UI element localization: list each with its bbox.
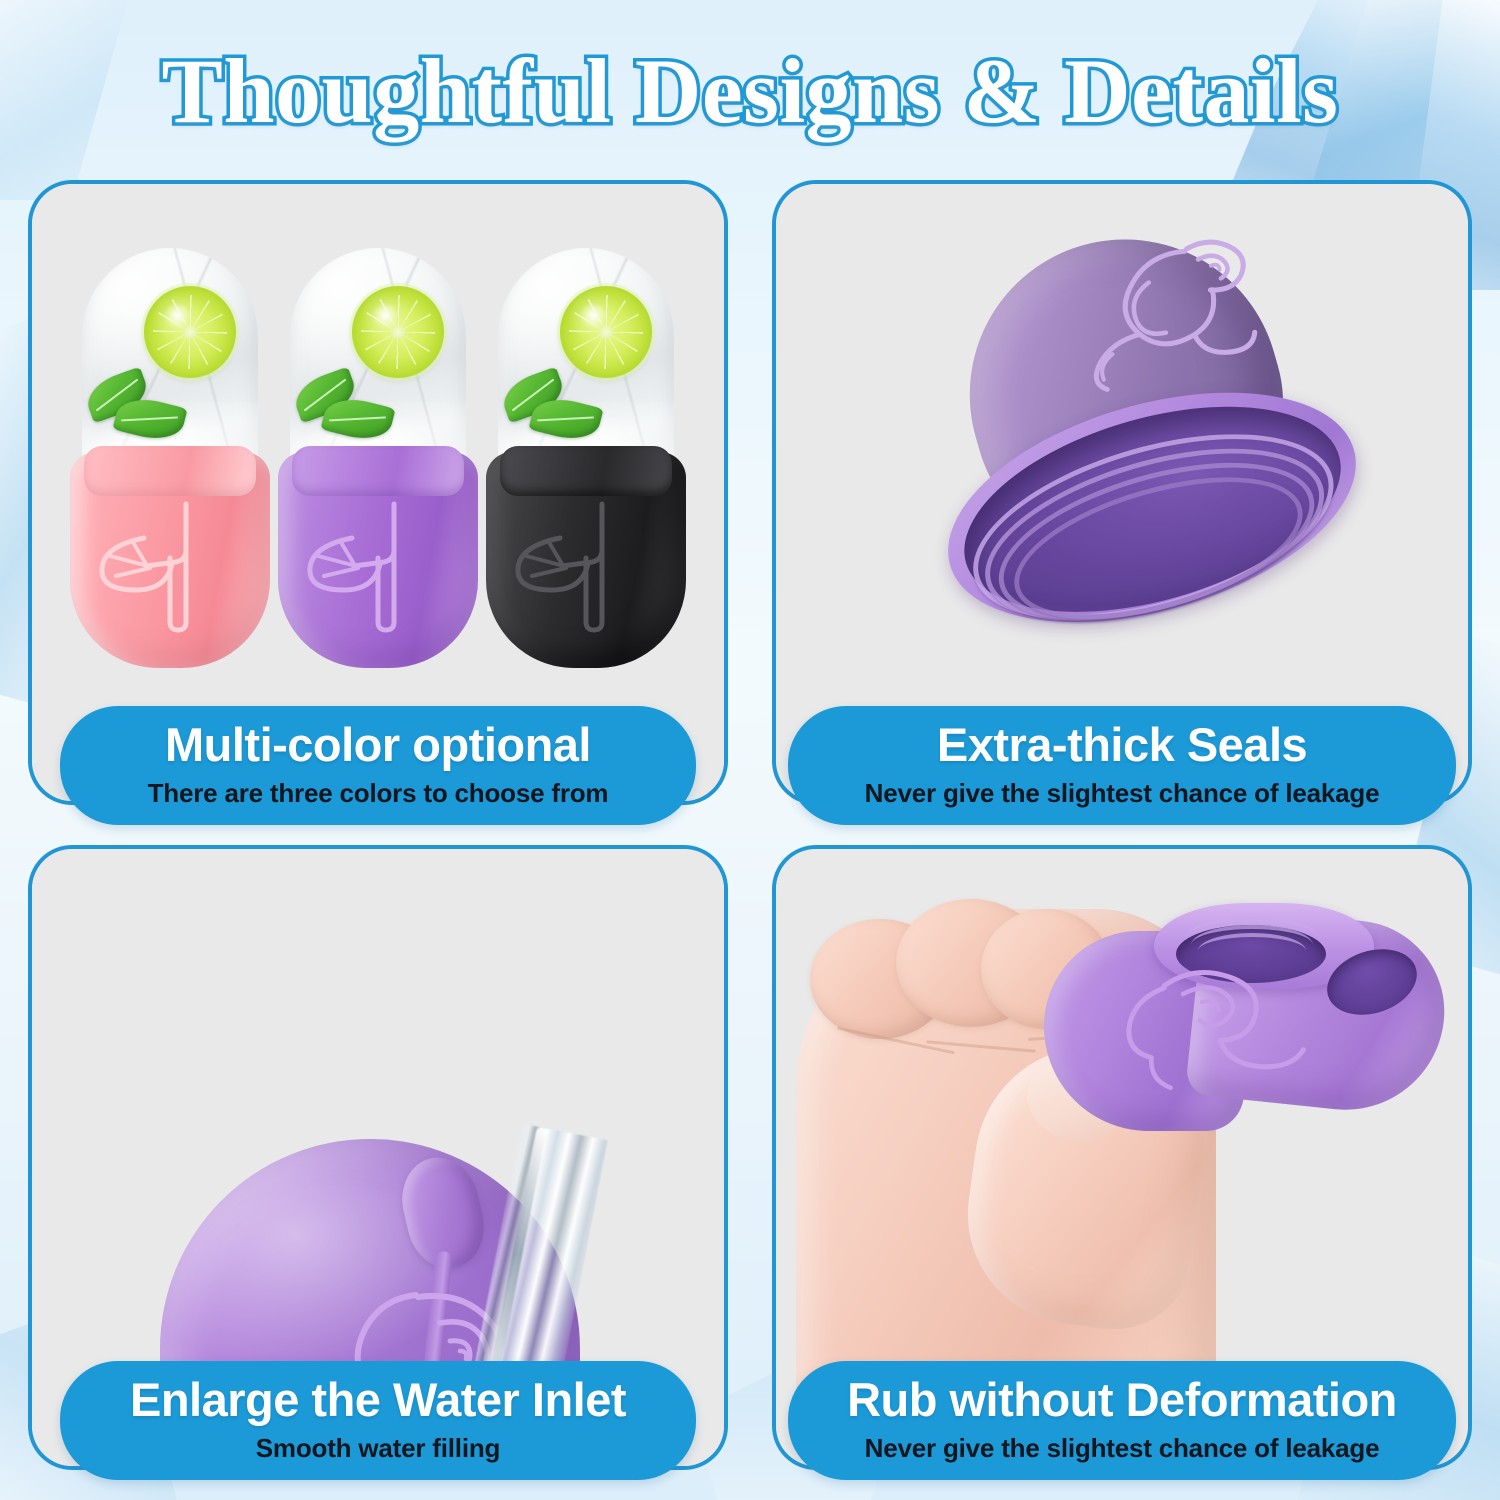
banner-rub-without-deformation: Rub without Deformation Never give the s…: [788, 1361, 1456, 1480]
squeezed-silicone-cup: [1044, 891, 1444, 1151]
banner-subtitle: Smooth water filling: [256, 1430, 500, 1466]
lime-slice-icon: [560, 286, 652, 378]
banner-enlarge-water-inlet: Enlarge the Water Inlet Smooth water fil…: [60, 1361, 696, 1480]
banner-subtitle: Never give the slightest chance of leaka…: [865, 775, 1380, 811]
silicone-collar: [292, 446, 464, 496]
silicone-body-black: [486, 452, 686, 668]
feature-panel-grid: Multi-color optional There are three col…: [0, 0, 1500, 1500]
panel-multi-color-optional: Multi-color optional There are three col…: [28, 180, 728, 805]
banner-title: Enlarge the Water Inlet: [130, 1371, 626, 1428]
banner-subtitle: Never give the slightest chance of leaka…: [865, 1430, 1380, 1466]
ice-roller-purple: [278, 248, 478, 668]
lime-slice-icon: [144, 286, 236, 378]
lime-slice-icon: [352, 286, 444, 378]
banner-extra-thick-seals: Extra-thick Seals Never give the slighte…: [788, 706, 1456, 825]
silicone-collar: [84, 446, 256, 496]
seal-cup-illustration: [846, 232, 1406, 652]
ice-roller-black: [486, 248, 686, 668]
ice-roller-pink: [70, 248, 270, 668]
banner-title: Multi-color optional: [165, 716, 591, 773]
silicone-body-pink: [70, 452, 270, 668]
page-title: Thoughtful Designs & Details: [162, 41, 1339, 141]
banner-subtitle: There are three colors to choose from: [148, 775, 609, 811]
leaf-stem-emboss-icon: [302, 498, 452, 638]
panel-extra-thick-seals: Extra-thick Seals Never give the slighte…: [772, 180, 1472, 805]
leaf-stem-emboss-icon: [510, 498, 660, 638]
silicone-collar: [500, 446, 672, 496]
rose-emboss-icon: [1035, 217, 1305, 410]
leaf-stem-emboss-icon: [94, 498, 244, 638]
rose-emboss-icon: [1102, 946, 1324, 1097]
header: Thoughtful Designs & Details: [0, 36, 1500, 146]
banner-title: Rub without Deformation: [847, 1371, 1397, 1428]
silicone-body-purple: [278, 452, 478, 668]
panel-enlarge-water-inlet: Enlarge the Water Inlet Smooth water fil…: [28, 845, 728, 1470]
banner-title: Extra-thick Seals: [937, 716, 1307, 773]
banner-multi-color-optional: Multi-color optional There are three col…: [60, 706, 696, 825]
silicone-cup-tilted: [862, 190, 1380, 674]
panel-rub-without-deformation: Rub without Deformation Never give the s…: [772, 845, 1472, 1470]
